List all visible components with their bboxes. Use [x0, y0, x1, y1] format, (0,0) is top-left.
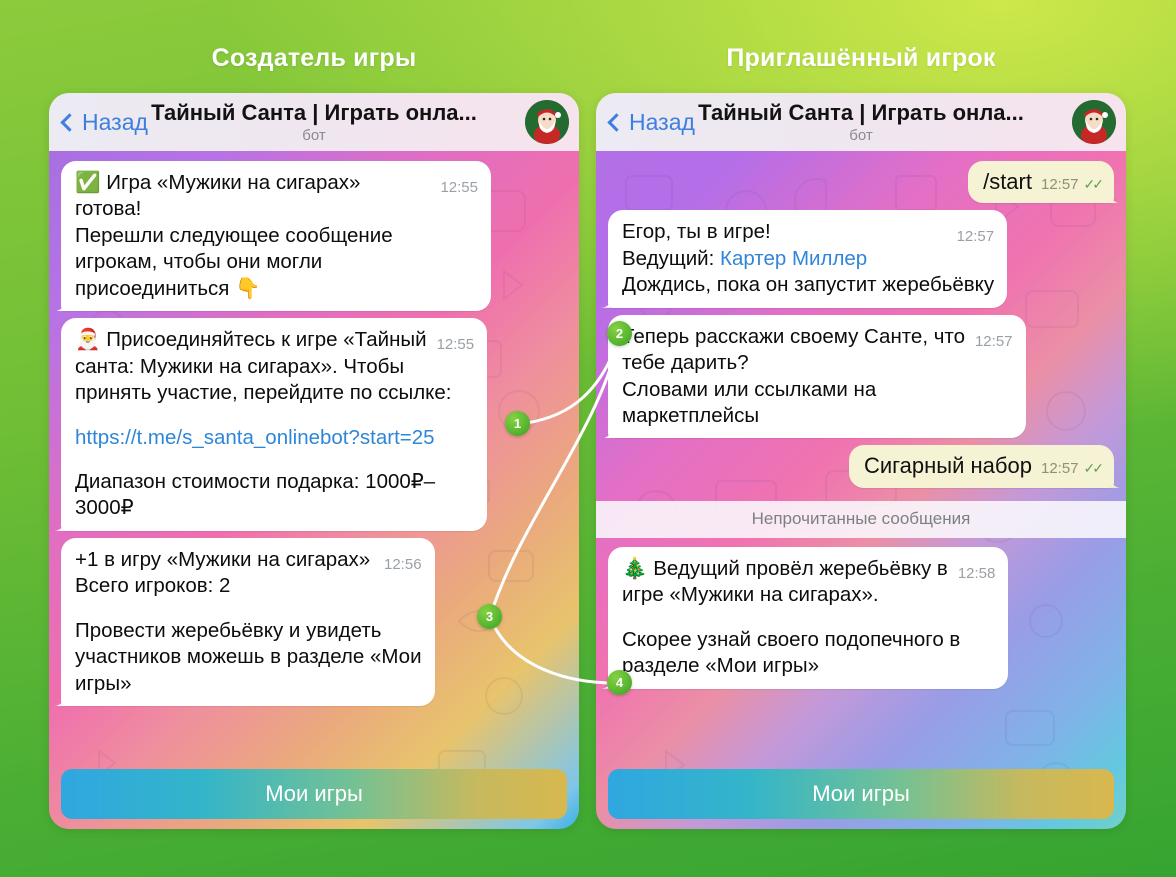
- unread-messages-divider: Непрочитанные сообщения: [596, 501, 1126, 538]
- my-games-button[interactable]: Мои игры: [61, 769, 567, 819]
- spacer: [622, 609, 995, 627]
- invite-link[interactable]: https://t.me/s_santa_onlinebot?start=25: [75, 426, 435, 449]
- marker-3: 3: [477, 604, 502, 629]
- message-line: Скорее узнай своего подопечного в: [622, 628, 960, 651]
- message-line: Ведущий:: [622, 247, 720, 270]
- message-line: принять участие, перейдите по ссылке:: [75, 381, 451, 404]
- spacer: [75, 451, 474, 469]
- message-line: тебе дарить?: [622, 351, 749, 374]
- message-time: 12:57: [975, 332, 1013, 351]
- santa-avatar-icon[interactable]: [525, 100, 569, 144]
- message-bubble[interactable]: 12:58 🎄 Ведущий провёл жеребьёвку в игре…: [608, 547, 1008, 689]
- message-bubble[interactable]: 12:57 Теперь расскажи своему Санте, что …: [608, 315, 1026, 439]
- message-time: 12:55: [437, 335, 475, 354]
- message-line: игре «Мужики на сигарах».: [622, 583, 879, 606]
- message-line: Игра «Мужики на сигарах» готова!: [75, 171, 360, 220]
- message-line: Ведущий провёл жеребьёвку в: [648, 557, 948, 580]
- spacer: [75, 600, 422, 618]
- message-line: Словами или ссылками на: [622, 378, 876, 401]
- column-caption-creator: Создатель игры: [49, 44, 579, 73]
- emoji-santa-icon: 🎅: [75, 328, 101, 351]
- message-line: Дождись, пока он запустит жеребьёвку: [622, 273, 994, 296]
- emoji-check-icon: ✅: [75, 171, 101, 194]
- phone-panel-invited: Назад Тайный Санта | Играть онла... бот: [596, 93, 1126, 829]
- message-list-creator[interactable]: 12:55 ✅ Игра «Мужики на сигарах» готова!…: [49, 151, 579, 829]
- message-time: 12:58: [958, 564, 996, 583]
- message-line: санта: Мужики на сигарах». Чтобы: [75, 355, 404, 378]
- read-receipt-icon: ✓✓: [1084, 459, 1101, 477]
- message-line: маркетплейсы: [622, 404, 759, 427]
- message-bubble[interactable]: 12:57 Егор, ты в игре! Ведущий: Картер М…: [608, 210, 1007, 307]
- chat-header: Назад Тайный Санта | Играть онла... бот: [49, 93, 579, 151]
- spacer: [75, 407, 474, 425]
- message-time: 12:57: [1041, 175, 1079, 194]
- back-button[interactable]: Назад: [59, 109, 148, 136]
- marker-1: 1: [505, 411, 530, 436]
- chat-header: Назад Тайный Санта | Играть онла... бот: [596, 93, 1126, 151]
- message-line: участников можешь в разделе «Мои: [75, 645, 422, 668]
- message-bubble-outgoing[interactable]: Сигарный набор 12:57 ✓✓: [849, 445, 1114, 487]
- column-caption-invited: Приглашённый игрок: [596, 44, 1126, 73]
- message-line: 3000₽: [75, 496, 134, 519]
- message-line: Всего игроков: 2: [75, 574, 230, 597]
- read-receipt-icon: ✓✓: [1084, 175, 1101, 193]
- back-button-label: Назад: [629, 109, 695, 136]
- message-line: Диапазон стоимости подарка: 1000₽–: [75, 470, 435, 493]
- chevron-left-icon: [60, 113, 78, 131]
- message-line: Провести жеребьёвку и увидеть: [75, 619, 381, 642]
- message-line: Перешли следующее сообщение: [75, 224, 393, 247]
- message-time: 12:57: [1041, 459, 1079, 478]
- back-button[interactable]: Назад: [606, 109, 695, 136]
- message-line: игрокам, чтобы они могли: [75, 250, 322, 273]
- chat-wallpaper-invited: /start 12:57 ✓✓ 12:57 Егор, ты в игре! В…: [596, 151, 1126, 829]
- message-line: Присоединяйтесь к игре «Тайный: [101, 328, 427, 351]
- phone-panel-creator: Назад Тайный Санта | Играть онла... бот: [49, 93, 579, 829]
- message-list-invited[interactable]: /start 12:57 ✓✓ 12:57 Егор, ты в игре! В…: [596, 151, 1126, 829]
- emoji-christmas-tree-icon: 🎄: [622, 557, 648, 580]
- santa-avatar-icon[interactable]: [1072, 100, 1116, 144]
- message-bubble[interactable]: 12:55 🎅 Присоединяйтесь к игре «Тайный с…: [61, 318, 487, 531]
- message-time: 12:57: [957, 227, 995, 246]
- message-time: 12:55: [440, 178, 478, 197]
- message-line: +1 в игру «Мужики на сигарах»: [75, 548, 370, 571]
- my-games-button[interactable]: Мои игры: [608, 769, 1114, 819]
- message-line: Егор, ты в игре!: [622, 220, 771, 243]
- chat-wallpaper-creator: 12:55 ✅ Игра «Мужики на сигарах» готова!…: [49, 151, 579, 829]
- marker-4: 4: [607, 670, 632, 695]
- emoji-point-down-icon: 👇: [235, 277, 261, 300]
- message-text: /start: [983, 168, 1032, 196]
- message-time: 12:56: [384, 555, 422, 574]
- message-line: присоединиться: [75, 277, 235, 300]
- message-line: игры»: [75, 672, 131, 695]
- message-text: Сигарный набор: [864, 452, 1032, 480]
- back-button-label: Назад: [82, 109, 148, 136]
- marker-2: 2: [607, 321, 632, 346]
- host-mention-link[interactable]: Картер Миллер: [720, 247, 867, 270]
- chevron-left-icon: [607, 113, 625, 131]
- message-bubble[interactable]: 12:55 ✅ Игра «Мужики на сигарах» готова!…: [61, 161, 491, 311]
- message-bubble[interactable]: 12:56 +1 в игру «Мужики на сигарах» Всег…: [61, 538, 435, 706]
- infographic-canvas: Создатель игры Приглашённый игрок Назад …: [0, 0, 1176, 877]
- message-line: разделе «Мои игры»: [622, 654, 819, 677]
- message-bubble-outgoing[interactable]: /start 12:57 ✓✓: [968, 161, 1114, 203]
- message-line: Теперь расскажи своему Санте, что: [622, 325, 965, 348]
